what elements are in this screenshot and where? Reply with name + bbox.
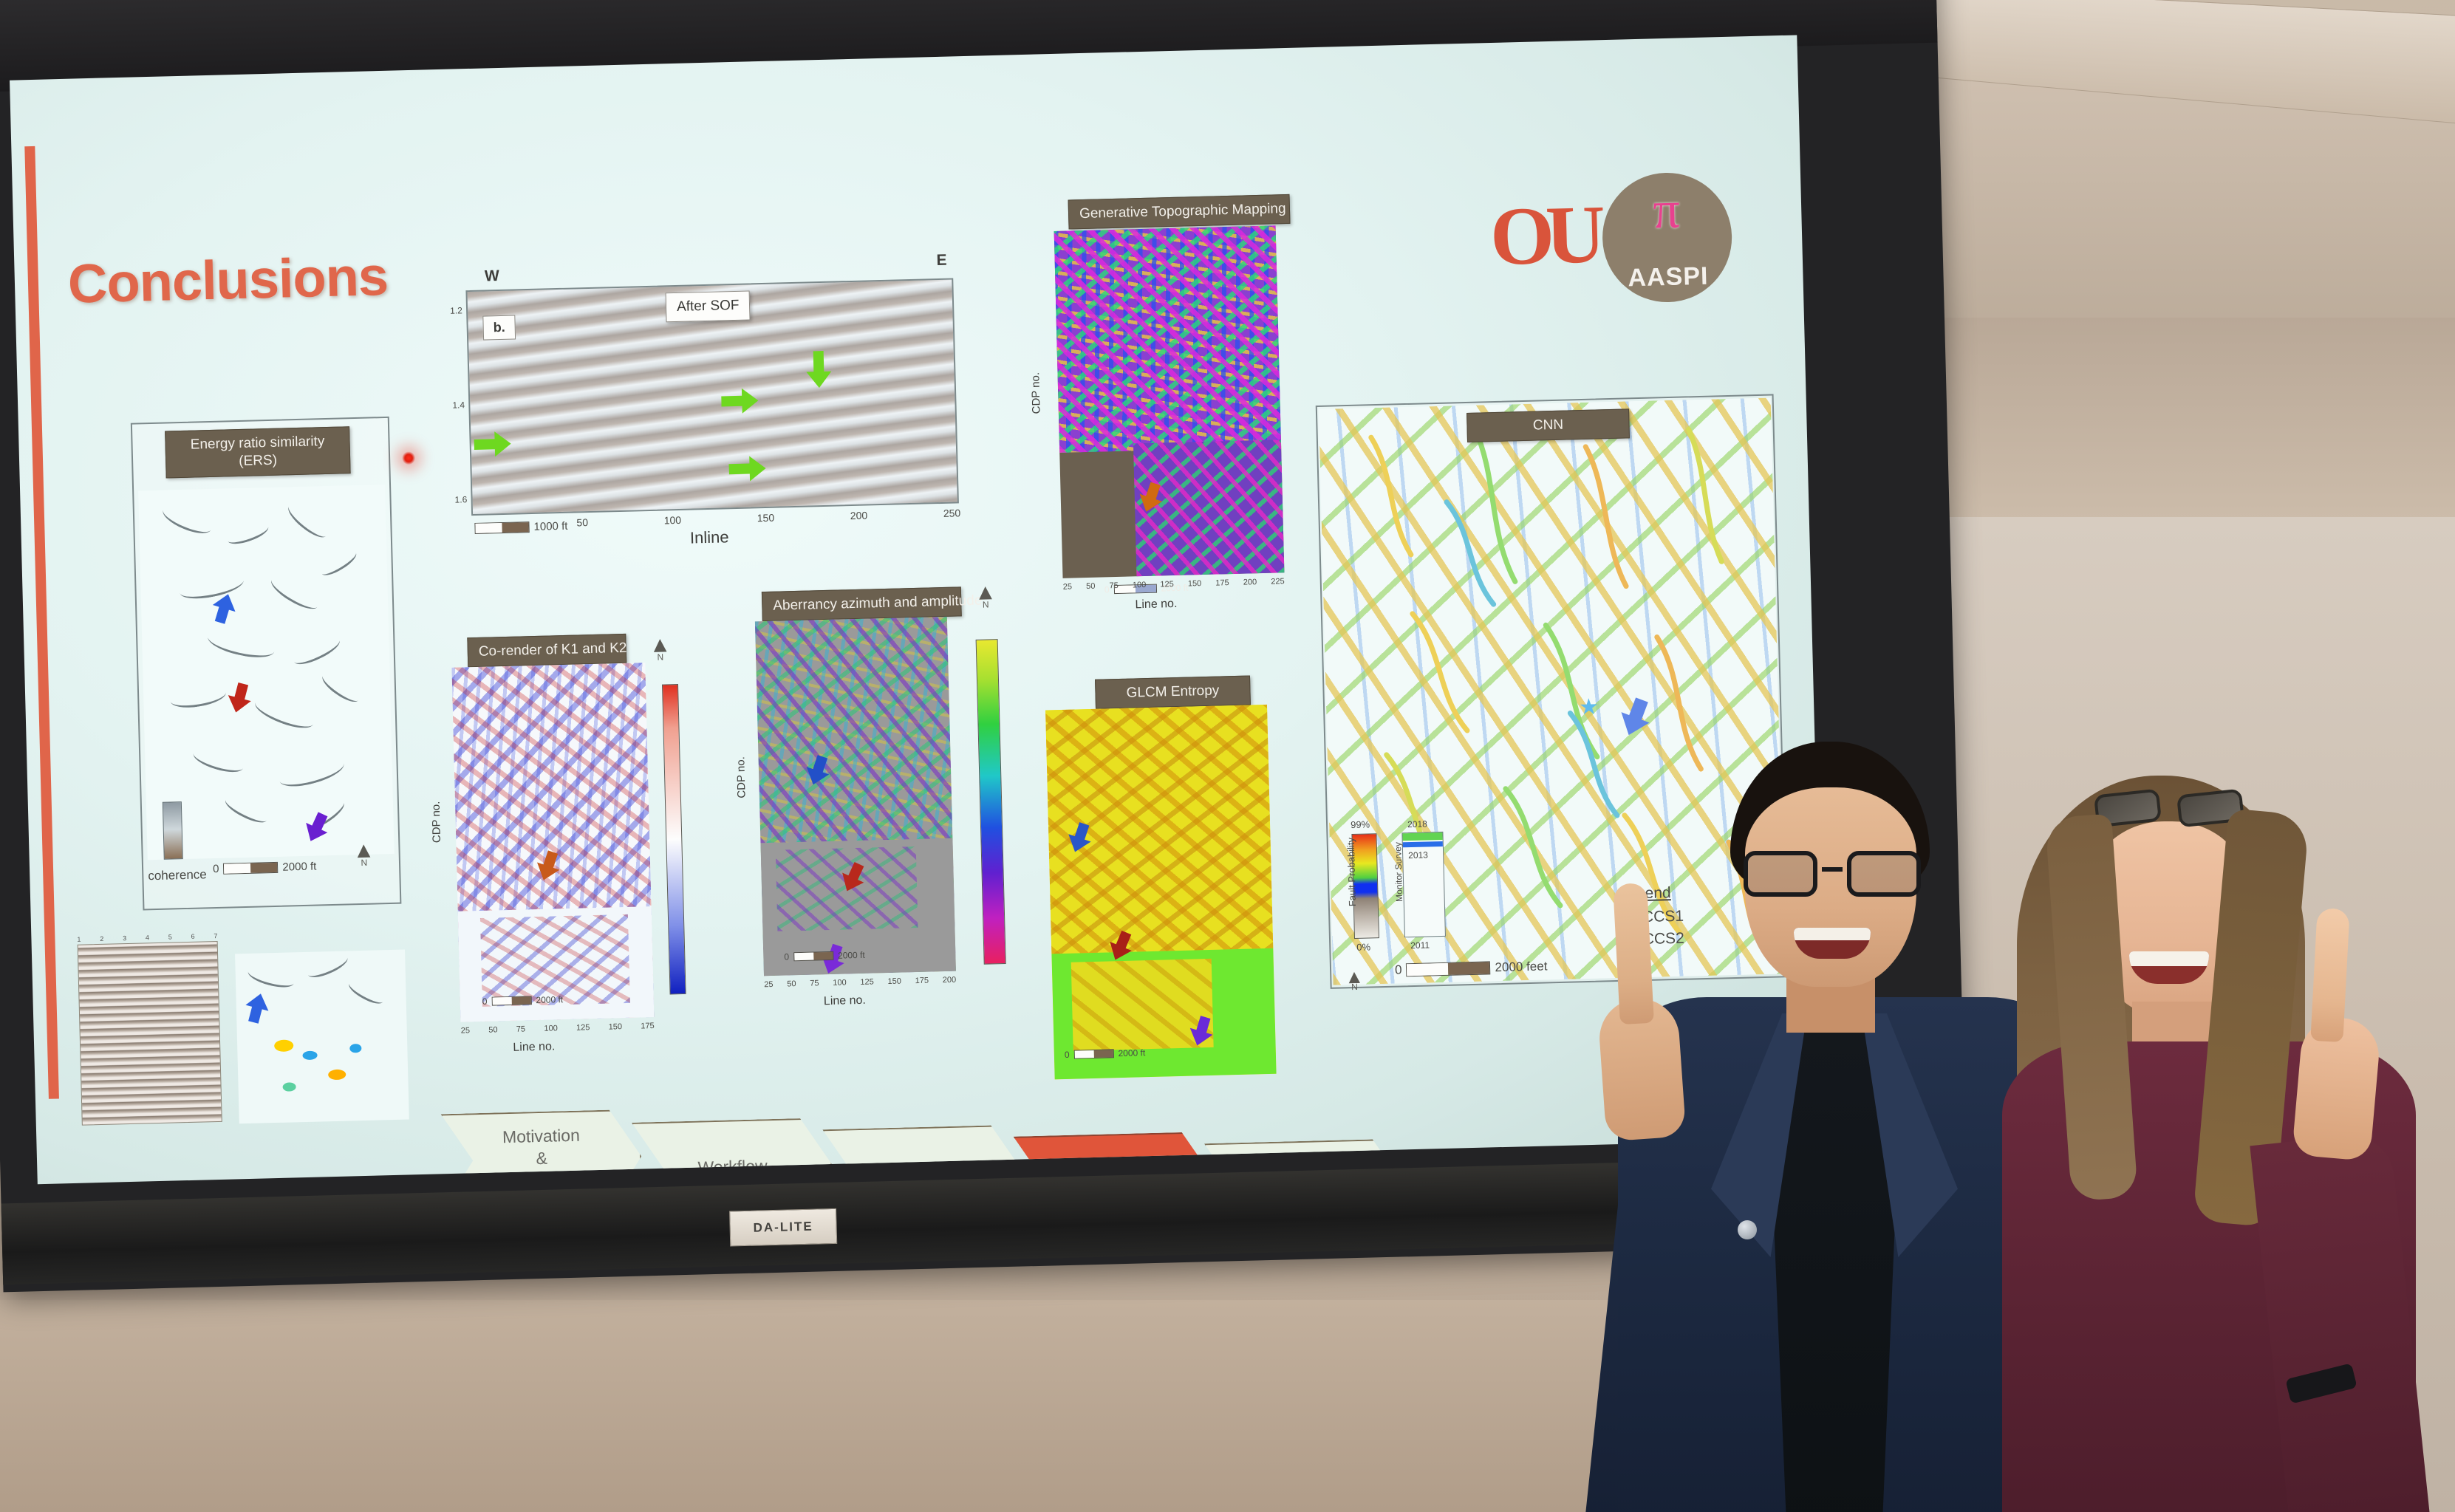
cnn-year-2011: 2011 [1410,940,1430,951]
gtm-map [1054,225,1285,578]
k1k2-panel-caption: Co-render of K1 and K2 [467,634,626,667]
page-title: Conclusions [67,244,389,315]
ers-scalebar: 0 2000 ft [213,861,317,876]
presenter-left-smile [1794,928,1871,959]
k1k2-x-ticks: 25 50 75 100 125 150 175 [461,1022,655,1036]
cnn-monitor-survey-title: Monitor Survey [1393,842,1404,902]
ers-scale-max: 2000 ft [282,861,316,874]
aberrancy-colorbar [976,639,1006,965]
cnn-year-2018: 2018 [1407,818,1427,829]
cnn-colorbar-title: Fault Probability [1345,838,1358,907]
gtm-x-label: Line no. [1135,598,1177,612]
nav-chevron-results[interactable]: Results [822,1124,1024,1184]
ers-north-arrow-icon: ▲N [352,840,375,868]
cnn-north-arrow-icon: ▲N [1345,967,1365,992]
seismic-y-ticks: 1.2 1.4 1.6 [450,305,468,504]
ou-logo: OU [1489,182,1580,295]
aaspi-logo: π AASPI [1601,171,1733,304]
seismic-green-arrow-4-icon [728,454,766,483]
nav-label-workflow: Workflow [697,1155,768,1179]
aberrancy-map [755,617,956,976]
nav-label-motivation: Motivation & Background [496,1125,588,1185]
ers-scale-min: 0 [213,863,219,875]
seismic-panel-caption: After SOF [666,290,751,322]
conference-room-photo: Conclusions OU π AASPI Energy ratio simi… [0,0,2455,1512]
k1k2-scalebar: 0 2000 ft [482,994,564,1007]
k1k2-north-arrow-icon: ▲N [649,634,672,662]
cnn-monitor-survey-bar [1401,832,1446,937]
nav-chevron-workflow[interactable]: Workflow [632,1118,833,1184]
glcm-entropy-map [1045,705,1277,1079]
aaspi-logo-text: AASPI [1628,262,1709,293]
laser-pointer-dot [402,451,415,465]
seismic-east-label: E [936,252,947,270]
aberrancy-scalebar: 0 2000 ft [784,950,865,962]
cnn-colorbar-max-label: 99% [1351,818,1370,830]
presenter-left-lapel-pin [1738,1220,1757,1239]
aaspi-symbol-icon: π [1653,183,1681,237]
k1k2-curvature-map [451,663,654,1022]
cnn-colorbar-min-label: 0% [1356,941,1370,952]
aberrancy-panel-caption: Aberrancy azimuth and amplitude [762,586,962,621]
seismic-x-label: Inline [690,527,729,547]
glcm-panel-caption: GLCM Entropy [1095,675,1251,708]
presenter-left-eyeglasses [1742,851,1922,897]
ers-colorbar-label: coherence [148,867,207,883]
glcm-scalebar: 0 2000 ft [1065,1047,1146,1060]
mini-map-blue-arrow-icon [237,988,277,1028]
presenter-right-sunglasses-on-head [2095,787,2243,827]
presenter-left [1537,739,2069,1512]
seismic-green-arrow-1-icon [805,351,833,389]
aberrancy-north-arrow-icon: ▲N [974,581,997,609]
seismic-green-arrow-2-icon [721,386,759,415]
mini-seismic-section [78,941,222,1126]
k1k2-y-label: CDP no. [430,801,443,843]
gtm-panel-caption: Generative Topographic Mapping [1068,194,1291,229]
ers-panel-caption: Energy ratio similarity (ERS) [165,426,351,478]
gtm-y-label: CDP no. [1029,372,1042,414]
ers-colorbar [163,801,183,860]
presenter-right-pointing-finger [2310,908,2349,1042]
seismic-west-label: W [485,267,499,285]
aberrancy-x-label: Line no. [824,994,866,1008]
dalite-brand-badge: DA-LITE [729,1208,837,1247]
cnn-panel-caption: CNN [1466,408,1630,442]
slide-accent-bar [24,146,59,1099]
presenter-left-pointing-finger [1613,883,1654,1024]
cnn-year-2013: 2013 [1408,849,1428,861]
mini-fault-map [235,950,409,1124]
aberrancy-x-ticks: 25 50 75 100 125 150 175 200 [764,976,956,990]
k1k2-x-label: Line no. [513,1040,555,1054]
seismic-green-arrow-3-icon [474,430,511,459]
seismic-sublabel: b. [482,315,516,340]
aberrancy-y-label: CDP no. [734,756,748,798]
k1k2-colorbar [662,684,686,994]
presenter-right [1995,753,2455,1512]
nav-chevron-motivation-background[interactable]: Motivation & Background [441,1109,643,1185]
